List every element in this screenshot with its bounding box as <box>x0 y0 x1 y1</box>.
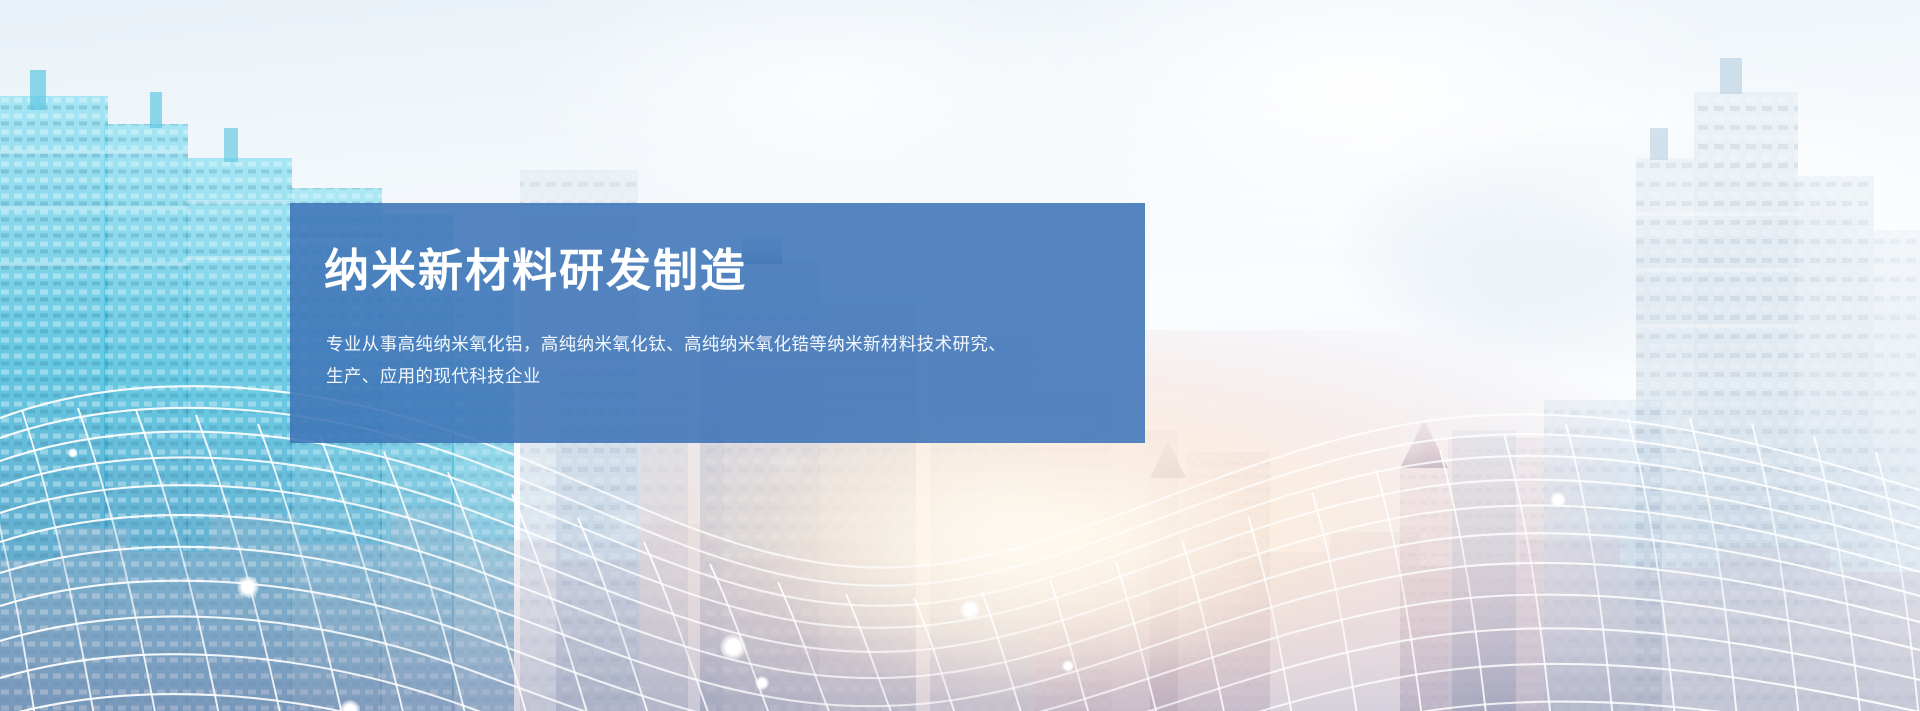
hero-subtitle-line1: 专业从事高纯纳米氧化铝，高纯纳米氧化钛、高纯纳米氧化锆等纳米新材料技术研究、 <box>326 328 1105 360</box>
hero-banner: 纳米新材料研发制造 专业从事高纯纳米氧化铝，高纯纳米氧化钛、高纯纳米氧化锆等纳米… <box>0 0 1920 711</box>
hero-subtitle-line2: 生产、应用的现代科技企业 <box>326 360 1105 392</box>
page-title: 纳米新材料研发制造 <box>324 247 1105 296</box>
hero-subtitle: 专业从事高纯纳米氧化铝，高纯纳米氧化钛、高纯纳米氧化锆等纳米新材料技术研究、 生… <box>326 328 1105 392</box>
hero-text-panel: 纳米新材料研发制造 专业从事高纯纳米氧化铝，高纯纳米氧化钛、高纯纳米氧化锆等纳米… <box>290 203 1145 443</box>
